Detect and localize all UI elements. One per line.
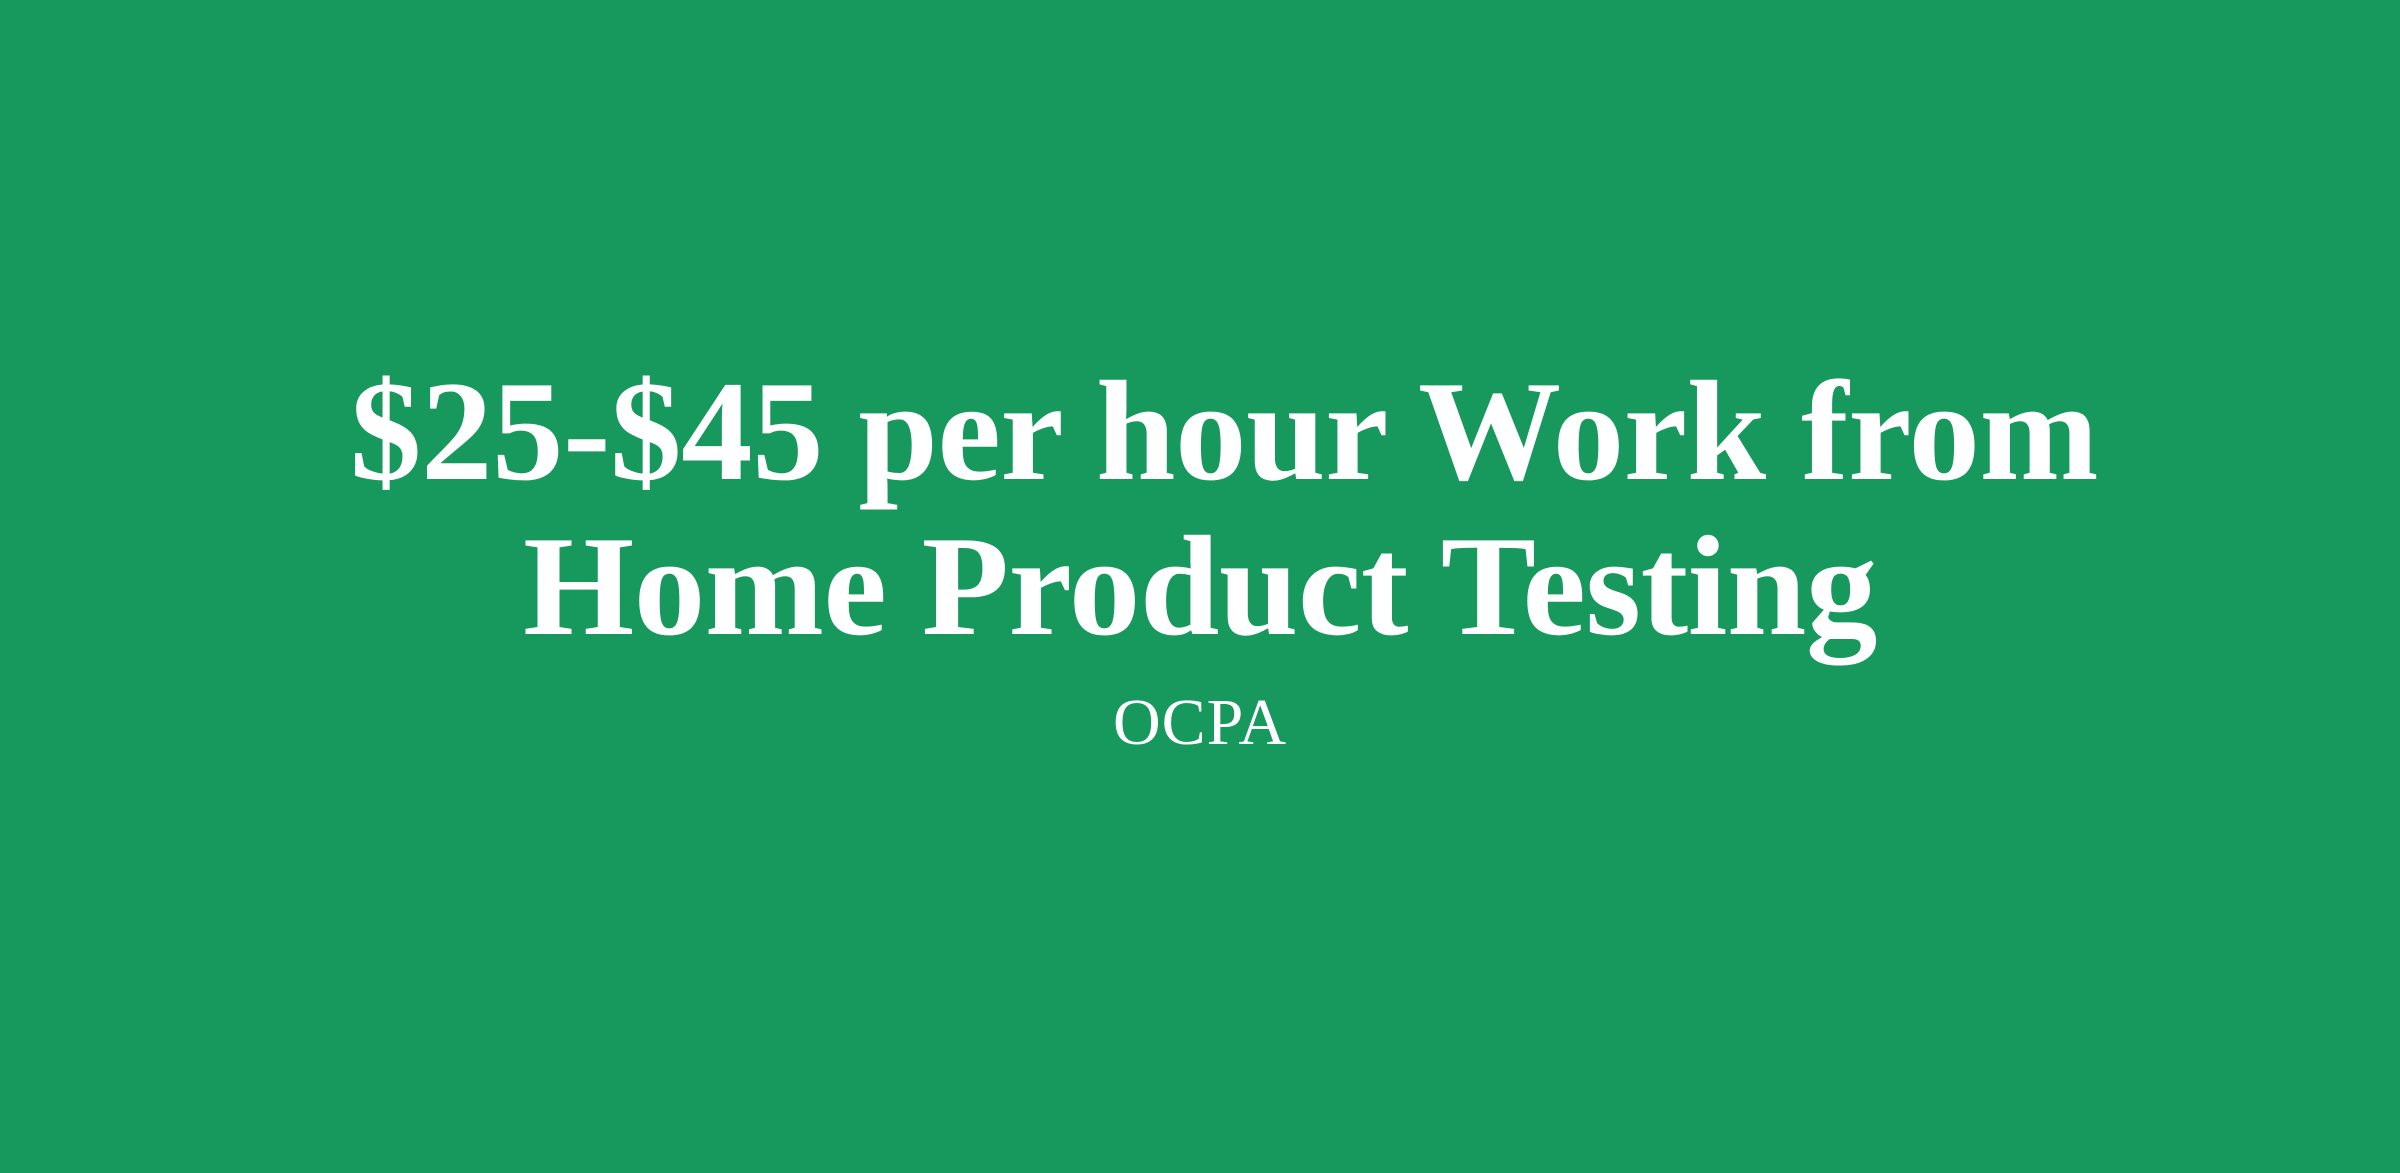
page-title-line-2: Home Product Testing [350, 509, 2050, 664]
social-share-card: $25-$45 per hour Work from Home Product … [0, 0, 2400, 1173]
site-name: OCPA [1113, 664, 1287, 760]
card-content: $25-$45 per hour Work from Home Product … [300, 354, 2100, 760]
page-title-line-1: $25-$45 per hour Work from [350, 354, 2050, 509]
page-title: $25-$45 per hour Work from Home Product … [350, 354, 2050, 664]
